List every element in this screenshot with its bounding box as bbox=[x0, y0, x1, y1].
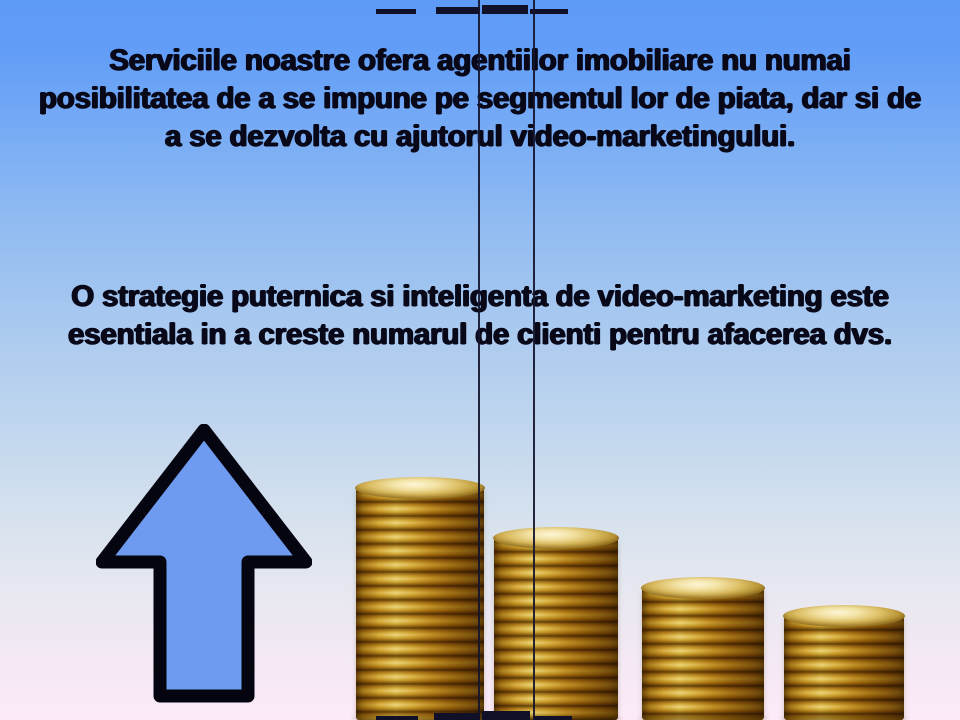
glyph-fragment bbox=[376, 9, 416, 14]
coin-stack-top bbox=[641, 577, 765, 599]
coin-stack-top bbox=[783, 605, 905, 627]
paragraph-primary: Serviciile noastre ofera agentiilor imob… bbox=[0, 42, 960, 155]
paragraph-secondary: O strategie puternica si inteligenta de … bbox=[0, 278, 960, 354]
coin-stack-body bbox=[784, 616, 904, 720]
coin-stack-shadow bbox=[778, 711, 910, 720]
slide-canvas: Serviciile noastre ofera agentiilor imob… bbox=[0, 0, 960, 720]
glyph-fragment bbox=[482, 5, 528, 14]
coin-stack-top bbox=[355, 477, 485, 499]
glyph-fragment bbox=[376, 716, 418, 720]
coin-stack-body bbox=[356, 488, 484, 720]
coin-stack-shadow bbox=[350, 711, 490, 720]
cropped-overlay-text-top bbox=[0, 0, 960, 14]
glyph-fragment bbox=[434, 713, 480, 720]
up-arrow-icon bbox=[96, 424, 312, 706]
glyph-fragment bbox=[530, 9, 568, 14]
glyph-fragment bbox=[436, 7, 480, 14]
coin-stack bbox=[784, 605, 904, 720]
coin-stack bbox=[356, 477, 484, 720]
coin-stack bbox=[642, 577, 764, 720]
glyph-fragment bbox=[534, 716, 572, 720]
coin-stack bbox=[494, 527, 618, 720]
coin-stack-body bbox=[642, 588, 764, 720]
glyph-fragment bbox=[482, 711, 530, 720]
coin-stack-shadow bbox=[488, 711, 624, 720]
cropped-overlay-text-bottom bbox=[0, 704, 960, 720]
coin-stack-body bbox=[494, 538, 618, 720]
coin-stack-shadow bbox=[636, 711, 770, 720]
coin-stack-top bbox=[493, 527, 619, 549]
